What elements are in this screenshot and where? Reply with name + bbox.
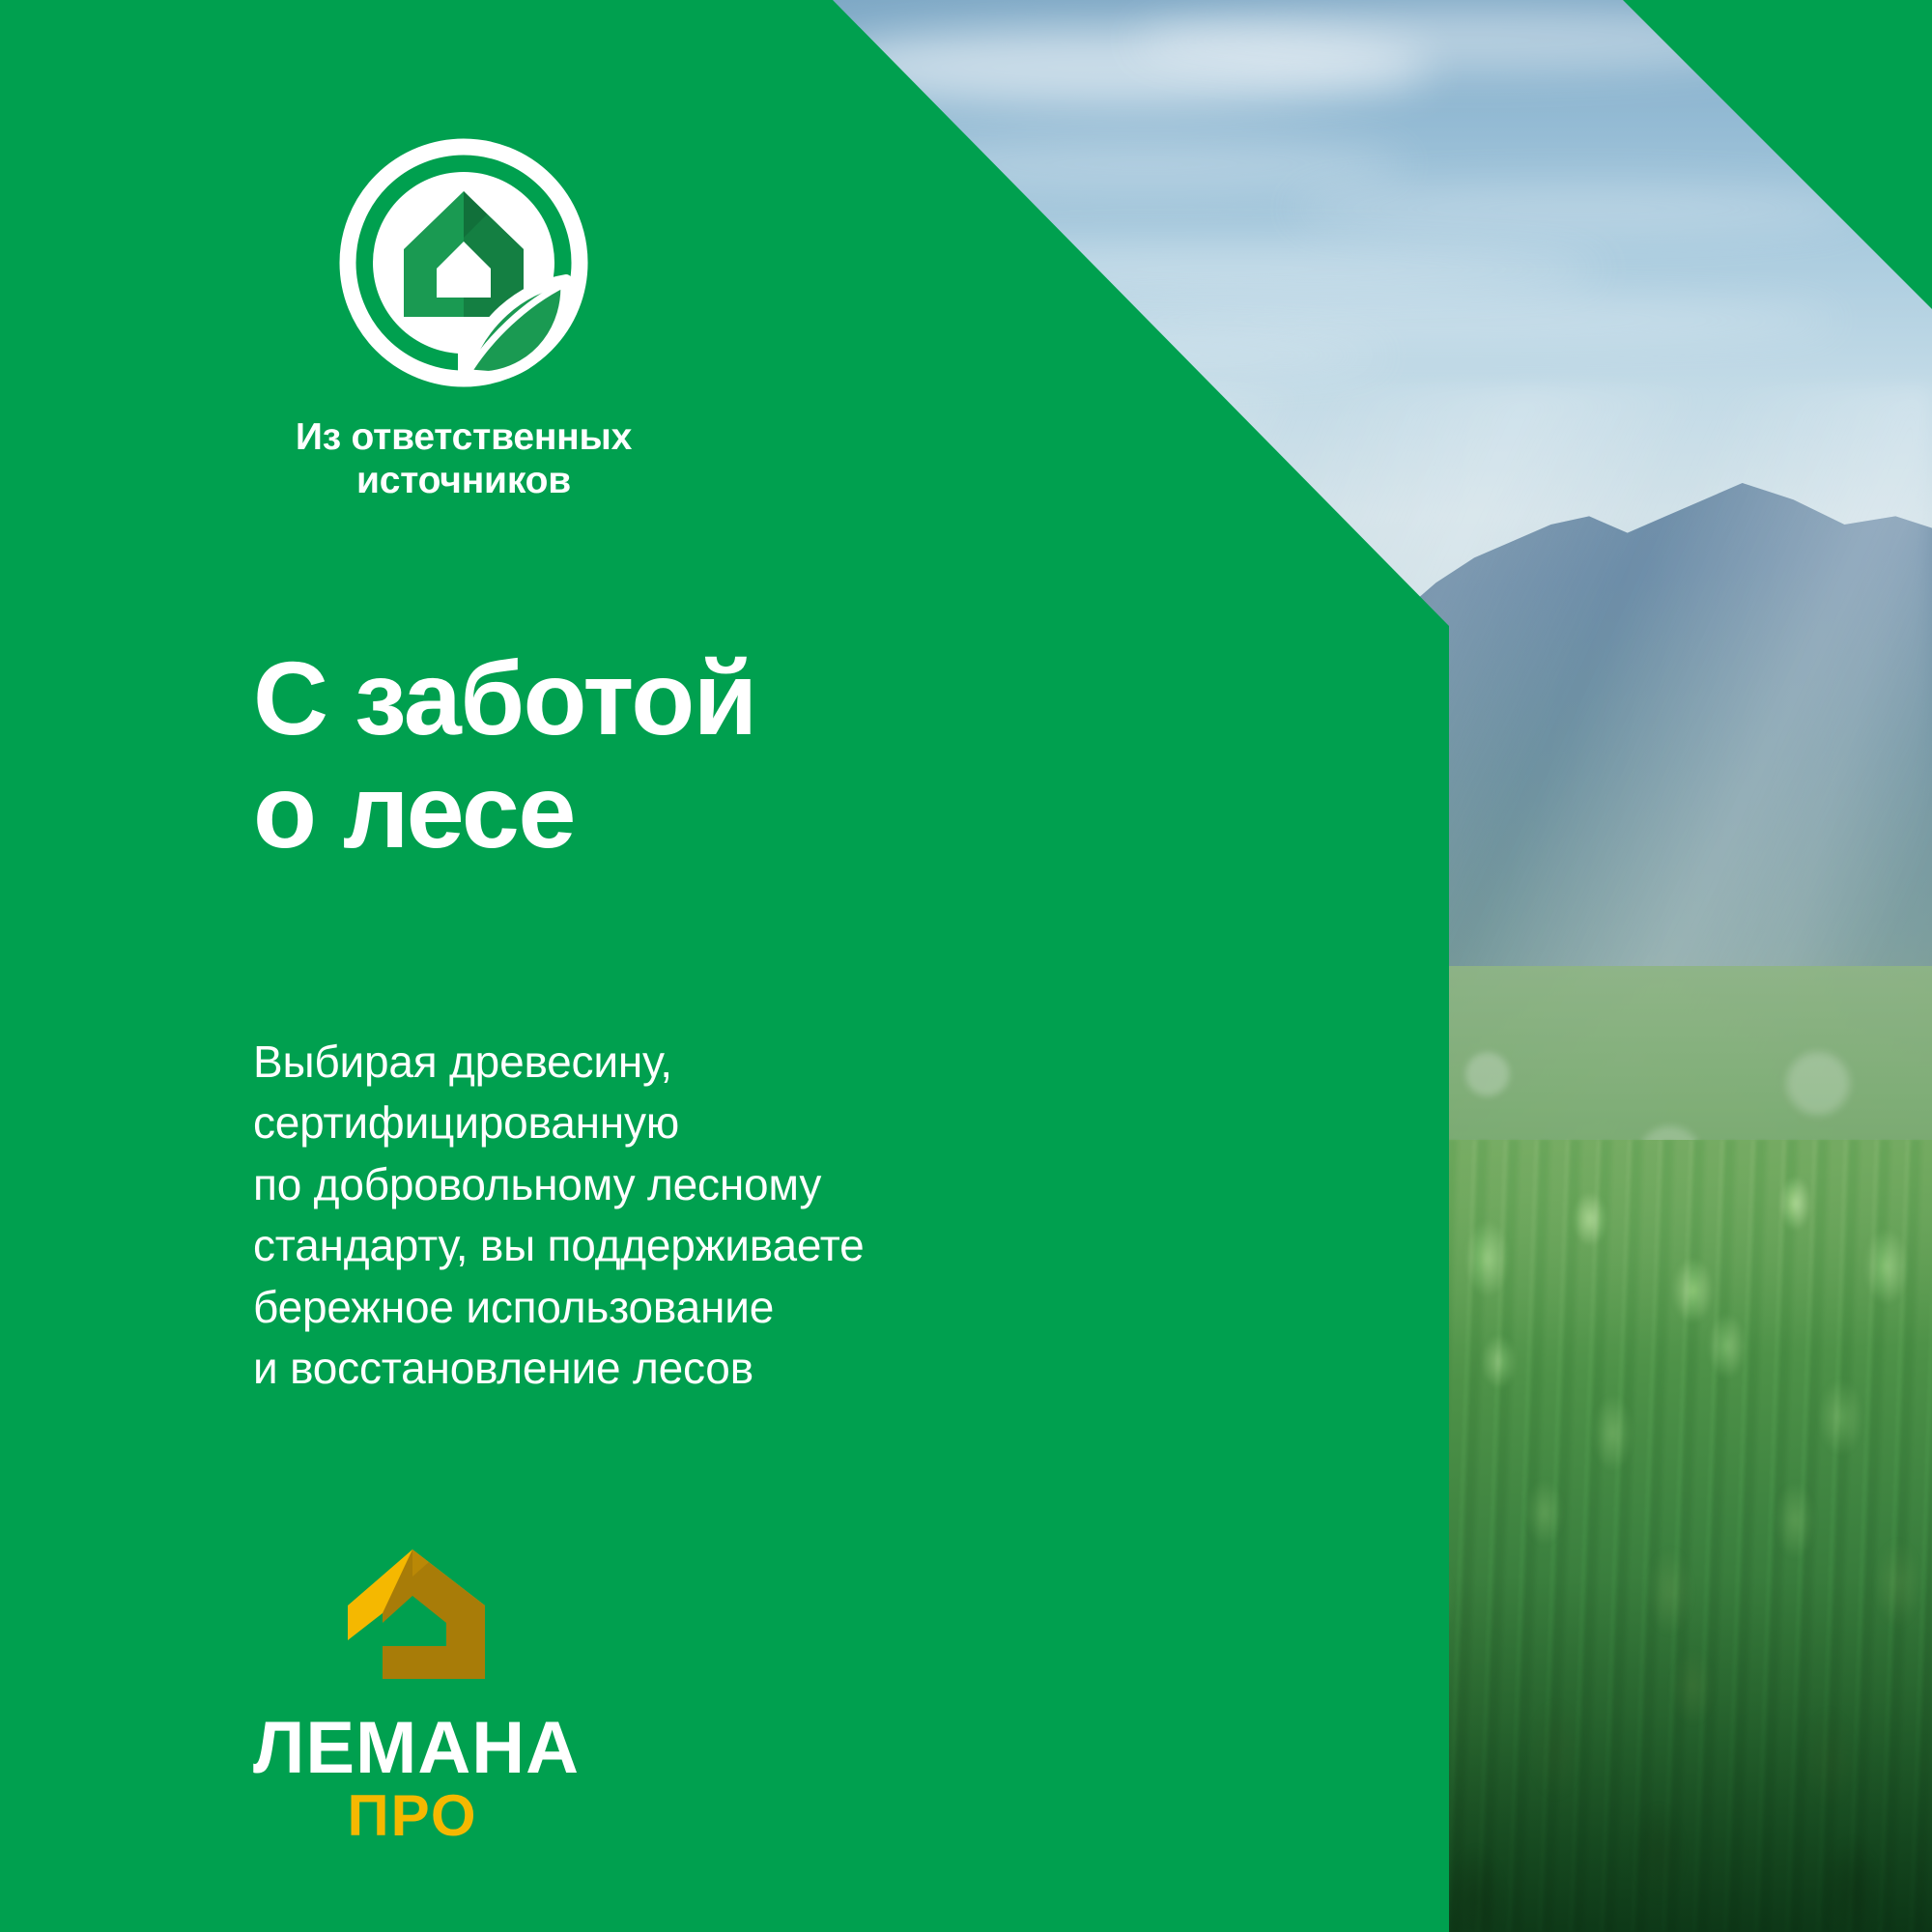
content-area: Из ответственных источников С заботой о … — [0, 0, 1449, 1932]
brand-name: ЛЕМАНА — [253, 1714, 572, 1783]
house-leaf-circle-icon — [334, 133, 593, 392]
poster-root: Из ответственных источников С заботой о … — [0, 0, 1932, 1932]
certification-badge: Из ответственных источников — [251, 133, 676, 502]
certification-caption: Из ответственных источников — [251, 415, 676, 502]
body-paragraph: Выбирая древесину, сертифицированную по … — [253, 1032, 864, 1400]
brand-lockup: ЛЕМАНА ПРО — [253, 1546, 572, 1845]
brand-subname: ПРО — [253, 1787, 572, 1845]
page-title: С заботой о лесе — [253, 642, 756, 867]
lemana-house-icon — [340, 1546, 485, 1700]
